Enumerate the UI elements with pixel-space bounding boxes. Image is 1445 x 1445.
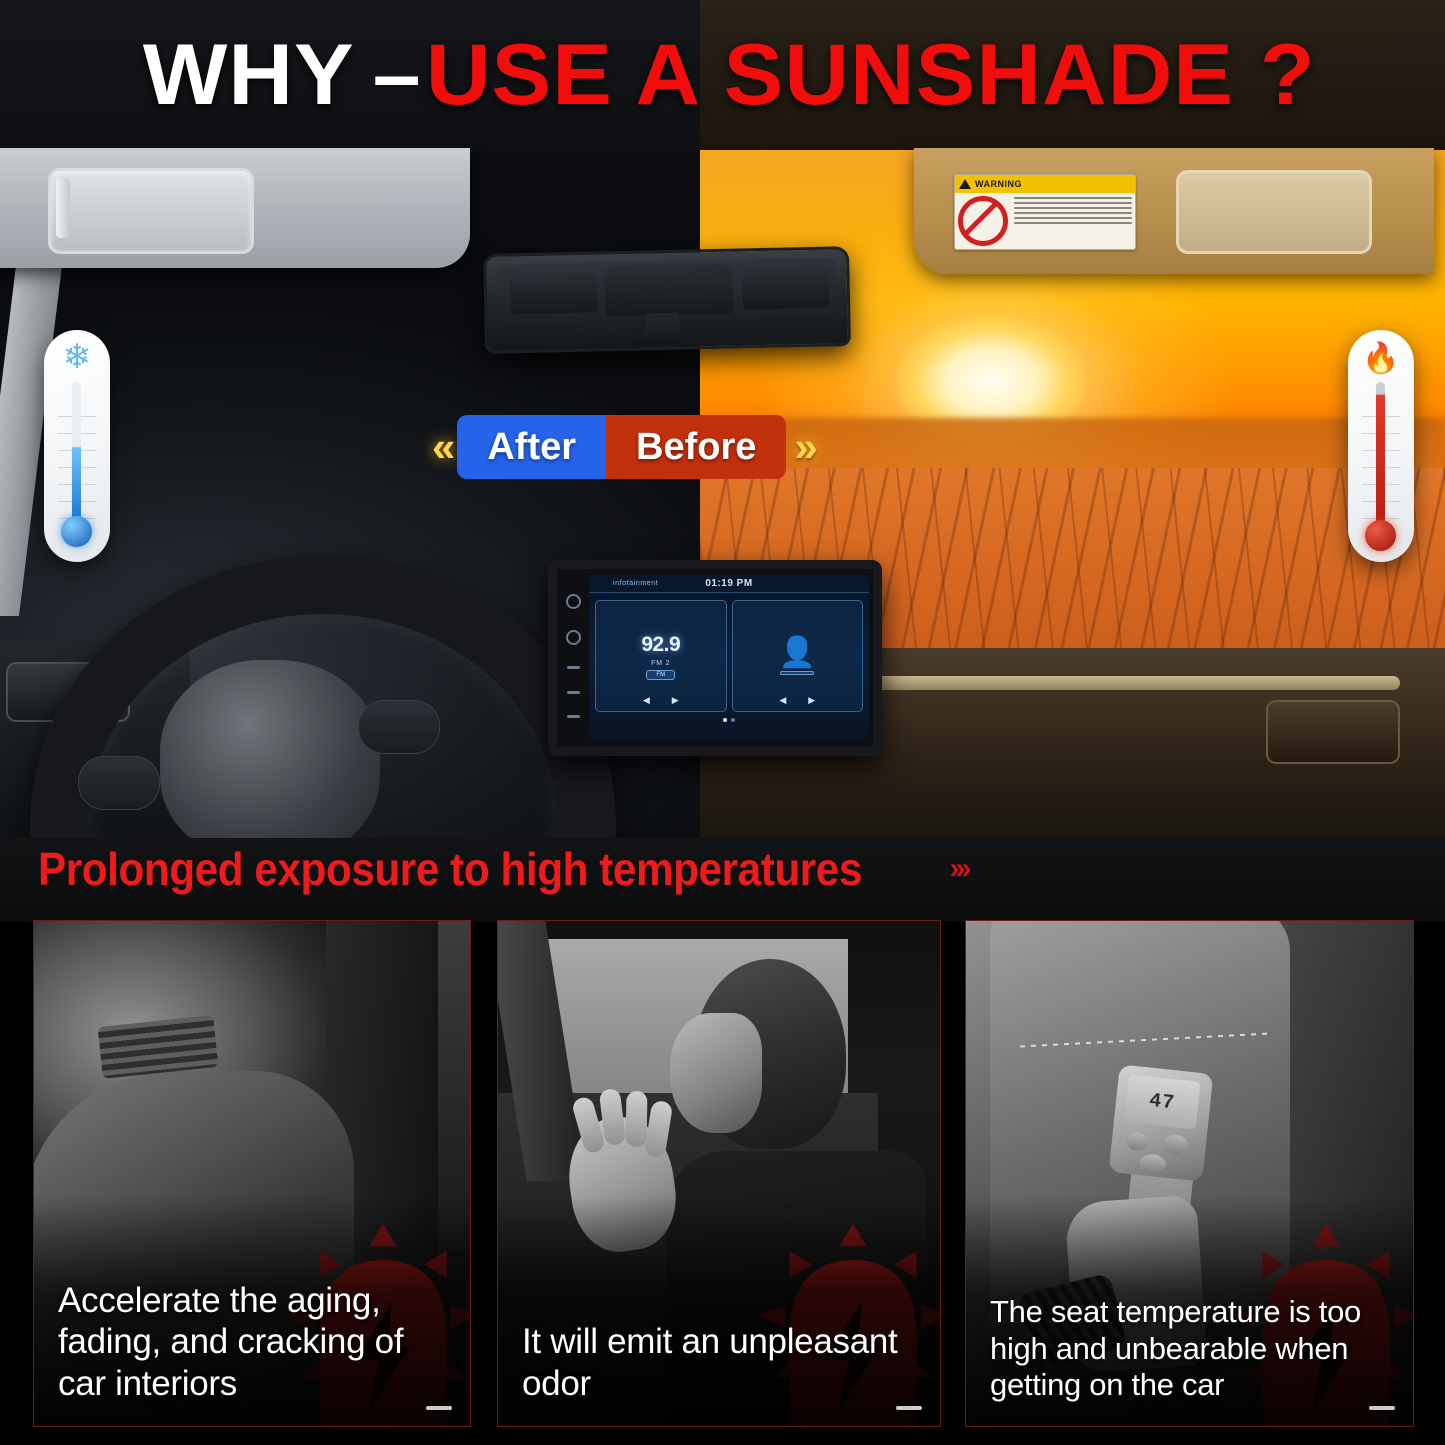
right-chevrons-icon: » [786,423,819,471]
banner-text: Prolonged exposure to high temperatures [38,842,862,896]
warning-label-header: WARNING [955,175,1135,193]
consequence-cards: Accelerate the aging, fading, and cracki… [0,920,1445,1445]
thermometer-tube [1376,382,1385,532]
visor-mirror-left [48,168,254,254]
radio-band: FM 2 [651,660,670,667]
thermometer-display: 47 [1124,1074,1201,1129]
caption-dash [426,1406,452,1410]
sun-visor-right: WARNING [914,148,1434,274]
infotainment-screen[interactable]: infotainment 01:19 PM 92.9 FM 2 FM ◀ ▶ [589,575,869,741]
steering-wheel-buttons-left [78,756,160,810]
phone-tile[interactable]: 👤 ◀ ▶ [732,600,864,712]
card-caption: The seat temperature is too high and unb… [990,1294,1399,1404]
rear-seat-reflection [510,272,597,314]
thermometer-bulb [61,516,92,547]
no-child-seat-icon [955,193,1011,249]
warning-triangle-icon [959,179,971,189]
cold-thermometer: ❄ [44,330,110,562]
infotainment-status-bar: infotainment 01:19 PM [589,575,869,593]
consequence-card: Accelerate the aging, fading, and cracki… [33,920,471,1427]
caption-dash [1369,1406,1395,1410]
air-vent-right [1266,700,1400,764]
flame-icon: 🔥 [1348,344,1414,374]
snowflake-icon: ❄ [44,340,110,374]
infotainment-head-unit[interactable]: infotainment 01:19 PM 92.9 FM 2 FM ◀ ▶ [548,560,882,756]
consequence-card: 47 The seat tem [965,920,1414,1427]
warning-label-body [955,193,1135,249]
radio-tile[interactable]: 92.9 FM 2 FM ◀ ▶ [595,600,727,712]
radio-frequency: 92.9 [641,633,680,657]
before-after-badges: « After Before » [424,415,820,479]
hot-thermometer: 🔥 [1348,330,1414,562]
page-dot-active[interactable] [723,718,727,722]
rearview-mirror [483,246,851,354]
menu-key-icon[interactable] [567,666,580,669]
thermometer-reading: 47 [1148,1089,1176,1115]
home-key-icon[interactable] [567,691,580,694]
thermometer-bulb [1365,520,1396,551]
infotainment-clock: 01:19 PM [705,578,752,589]
rearview-mirror-stem [645,313,680,344]
airbag-warning-label: WARNING [954,174,1136,250]
radio-seek-controls[interactable]: ◀ ▶ [643,695,679,706]
steering-wheel-buttons-right [358,700,440,754]
infotainment-brand-label: infotainment [613,580,658,587]
contact-name-chip[interactable] [780,671,814,675]
warning-label-heading: WARNING [975,179,1022,189]
radio-prev-icon[interactable]: ◀ [643,695,650,706]
card-caption: It will emit an unpleasant odor [522,1321,926,1404]
contact-person-icon: 👤 [779,638,816,668]
page-title: WHY – USE A SUNSHADE ? [0,0,1445,150]
radio-next-icon[interactable]: ▶ [672,695,679,706]
title-phrase-use-a-sunshade: USE A SUNSHADE ? [425,26,1315,125]
prolonged-exposure-banner: Prolonged exposure to high temperatures … [0,838,1445,922]
infrared-thermometer-gun: 47 [1109,1064,1214,1181]
radio-preset-chip[interactable]: FM [646,670,675,680]
title-word-why: WHY [143,26,355,125]
visor-tab-left [56,178,70,238]
phone-prev-icon[interactable]: ◀ [779,695,786,706]
steering-wheel-hub [160,660,380,838]
visor-mirror-right [1176,170,1372,254]
left-chevrons-icon: « [424,423,457,471]
thermometer-tube [72,382,81,522]
card-caption: Accelerate the aging, fading, and cracki… [58,1280,456,1404]
page-dot[interactable] [731,718,735,722]
caption-dash [896,1406,922,1410]
power-knob-icon[interactable] [566,594,581,609]
thermometer-button[interactable] [1125,1131,1149,1151]
volume-knob-icon[interactable] [566,630,581,645]
rear-seat-reflection [742,268,829,310]
consequence-card: It will emit an unpleasant odor [497,920,941,1427]
thermometer-button[interactable] [1139,1153,1167,1174]
sunshade-product-infographic: WARNING [0,0,1445,1445]
phone-nav-controls[interactable]: ◀ ▶ [779,695,815,706]
warning-label-text-lines [1011,193,1135,249]
sun-visor-left [0,148,470,268]
infotainment-tiles: 92.9 FM 2 FM ◀ ▶ ♪ ◀ ▶ [589,593,869,712]
back-key-icon[interactable] [567,715,580,718]
phone-next-icon[interactable]: ▶ [808,695,815,706]
banner-chevrons-icon: ››› [950,852,968,886]
thermometer-button[interactable] [1163,1133,1189,1155]
infotainment-side-keys[interactable] [561,583,585,729]
before-badge: Before [606,415,786,479]
after-badge: After [457,415,606,479]
infotainment-page-dots[interactable] [589,718,869,722]
dashboard-vent [98,1015,219,1079]
rear-seat-reflection [604,264,733,317]
